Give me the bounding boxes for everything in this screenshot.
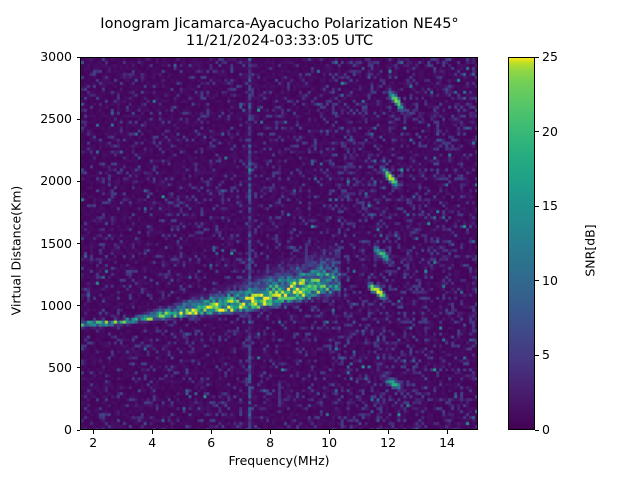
y-tick-mark — [77, 430, 81, 431]
x-axis-label: Frequency(MHz) — [80, 453, 478, 468]
x-tick-label: 12 — [358, 435, 418, 451]
ionogram-heatmap-canvas — [81, 58, 477, 429]
y-tick-label: 3000 — [40, 49, 72, 65]
y-tick-mark — [77, 305, 81, 306]
x-tick-label: 2 — [63, 435, 123, 451]
colorbar-tick-mark — [535, 430, 539, 431]
colorbar-tick-label: 10 — [542, 273, 558, 289]
colorbar-tick-label: 20 — [542, 124, 558, 140]
y-tick-label: 2000 — [40, 173, 72, 189]
y-tick-mark — [77, 243, 81, 244]
colorbar-tick-label: 0 — [542, 422, 550, 438]
x-tick-label: 14 — [417, 435, 477, 451]
x-tick-mark — [447, 430, 448, 434]
x-tick-label: 8 — [240, 435, 300, 451]
x-tick-mark — [388, 430, 389, 434]
colorbar-label: SNR[dB] — [583, 131, 598, 371]
x-tick-mark — [329, 430, 330, 434]
colorbar: 0510152025 — [508, 57, 535, 430]
y-tick-label: 1500 — [40, 236, 72, 252]
y-tick-label: 2500 — [40, 111, 72, 127]
ionogram-figure: Ionogram Jicamarca-Ayacucho Polarization… — [0, 0, 640, 480]
x-tick-label: 4 — [122, 435, 182, 451]
figure-title: Ionogram Jicamarca-Ayacucho Polarization… — [0, 16, 559, 50]
y-tick-mark — [77, 181, 81, 182]
y-tick-mark — [77, 367, 81, 368]
colorbar-gradient — [508, 57, 535, 430]
x-tick-mark — [152, 430, 153, 434]
y-tick-mark — [77, 57, 81, 58]
y-tick-mark — [77, 119, 81, 120]
x-tick-label: 10 — [299, 435, 359, 451]
x-tick-mark — [93, 430, 94, 434]
colorbar-tick-mark — [535, 280, 539, 281]
colorbar-tick-mark — [535, 131, 539, 132]
colorbar-tick-mark — [535, 206, 539, 207]
colorbar-tick-label: 15 — [542, 198, 558, 214]
x-tick-label: 6 — [181, 435, 241, 451]
y-tick-label: 1000 — [40, 298, 72, 314]
ionogram-plot-area — [80, 57, 478, 430]
x-tick-mark — [211, 430, 212, 434]
y-axis-label: Virtual Distance(Km) — [9, 131, 24, 371]
colorbar-tick-mark — [535, 57, 539, 58]
y-tick-label: 500 — [48, 360, 72, 376]
colorbar-tick-mark — [535, 355, 539, 356]
colorbar-tick-label: 25 — [542, 49, 558, 65]
x-tick-mark — [270, 430, 271, 434]
colorbar-tick-label: 5 — [542, 347, 550, 363]
